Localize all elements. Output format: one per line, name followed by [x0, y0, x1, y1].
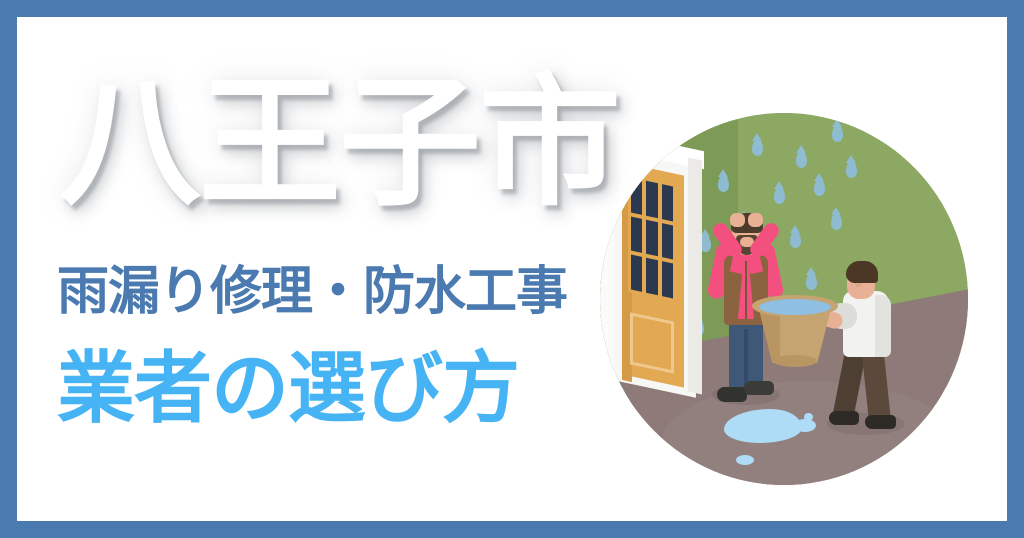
door-right-jamb [688, 158, 702, 395]
door-glass-pane [646, 219, 657, 256]
homeowner-hand-right [748, 213, 763, 227]
headline-text-block: 八王子市 雨漏り修理・防水工事 業者の選び方 [17, 17, 677, 521]
subtitle-service: 雨漏り修理・防水工事 [57, 262, 657, 322]
door-glass-pane [631, 216, 642, 253]
raindrop-icon [752, 139, 763, 156]
bucket-base [773, 355, 817, 367]
floor-puddle-tail [794, 419, 816, 432]
page-title: 八王子市 [59, 64, 679, 224]
floor-puddle-droplet [736, 455, 754, 465]
raindrop-icon [832, 125, 843, 142]
door-glass-pane [646, 181, 657, 218]
carrier-hair [846, 261, 878, 283]
roof-leak-illustration [600, 113, 968, 485]
door-glass-pane [631, 178, 642, 215]
door-lower-panel [630, 312, 674, 373]
door-glass-pane [662, 223, 673, 260]
water-bucket [752, 295, 838, 367]
raindrop-icon [796, 151, 807, 168]
door-glass-grid [628, 174, 676, 302]
door-glass-pane [631, 255, 642, 292]
raindrop-icon [814, 179, 825, 196]
homeowner-shoe-right [744, 381, 774, 395]
door-assembly [606, 131, 726, 411]
carrier-shirt-shadow [875, 295, 891, 357]
carrier-shoe-back [829, 411, 859, 425]
bucket-water-surface [759, 299, 831, 315]
homeowner-shoe-left [717, 387, 747, 402]
floor-puddle-droplet [804, 413, 813, 421]
banner-frame: 八王子市 雨漏り修理・防水工事 業者の選び方 [0, 0, 1024, 538]
carrier-shoe-front [865, 415, 896, 429]
banner-inner-card: 八王子市 雨漏り修理・防水工事 業者の選び方 [17, 17, 1007, 521]
raindrop-icon [790, 231, 801, 248]
door-glass-pane [662, 184, 673, 221]
raindrop-icon [846, 161, 857, 178]
raindrop-icon [831, 213, 842, 230]
homeowner-hand-left [730, 213, 745, 227]
subtitle-howto: 業者の選び方 [57, 343, 657, 435]
door-glass-pane [646, 258, 657, 295]
door-glass-pane [662, 261, 673, 298]
homeowner-button-line [745, 261, 747, 319]
